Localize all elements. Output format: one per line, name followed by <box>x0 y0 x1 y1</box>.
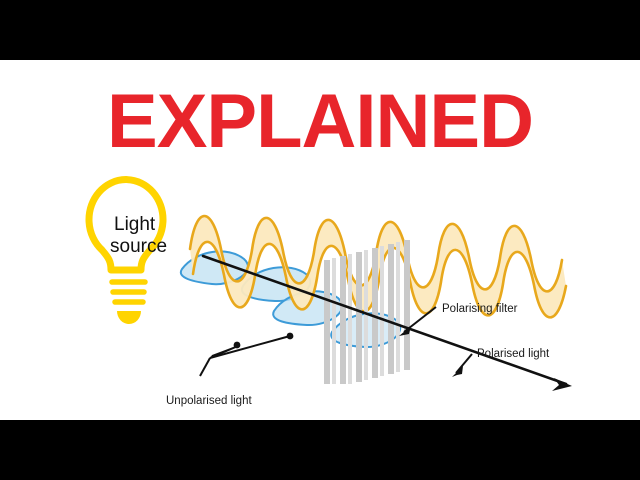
filter-bar-9 <box>388 244 394 374</box>
unpolarised-light-label: Unpolarised light <box>166 395 252 407</box>
screenshot-stage: EXPLAINED Light source <box>0 0 640 480</box>
filter-bar-5 <box>356 252 362 382</box>
annotation-unpolarised-light: Unpolarised light <box>166 333 293 407</box>
unpolarised-dot-a <box>234 342 241 349</box>
unpolarised-leader-stem <box>200 358 210 376</box>
filter-bar-4 <box>348 254 352 384</box>
bulb-label-line2: source <box>110 236 167 257</box>
letterbox-bar-top <box>0 0 640 60</box>
letterbox-bar-bottom <box>0 420 640 480</box>
slide-canvas: EXPLAINED Light source <box>0 60 640 420</box>
axis-line <box>203 256 566 384</box>
filter-bar-1 <box>324 260 330 384</box>
filter-bar-8 <box>380 246 384 376</box>
polarised-light-label: Polarised light <box>477 348 550 360</box>
polarising-filter-label: Polarising filter <box>442 303 518 315</box>
polarisation-diagram: Light source <box>0 60 640 420</box>
filter-bar-3 <box>340 256 346 384</box>
bulb-base-cap <box>117 311 141 324</box>
filter-bar-10 <box>396 242 400 372</box>
filter-bar-7 <box>372 248 378 378</box>
filter-bar-11 <box>404 240 410 370</box>
polarised-arrowhead <box>452 366 463 377</box>
light-bulb-graphic: Light source <box>89 180 167 324</box>
unpolarised-dot-b <box>287 333 294 340</box>
polarised-leader-line <box>456 354 472 373</box>
filter-bar-2 <box>332 258 336 384</box>
unpolarised-leader-b <box>210 336 290 358</box>
bulb-label-line1: Light <box>114 214 156 235</box>
